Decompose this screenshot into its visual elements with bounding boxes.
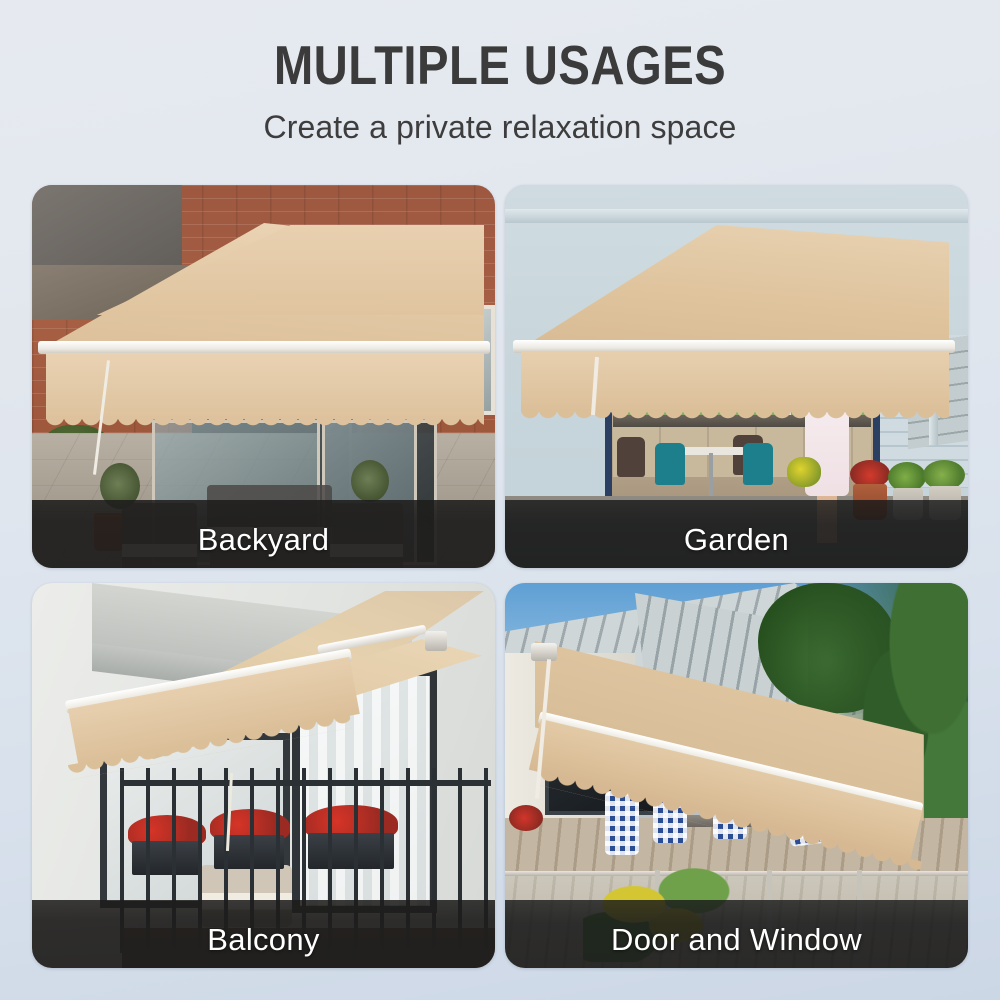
teal-chair-right — [743, 443, 773, 485]
awning-valance — [46, 353, 484, 419]
panel-caption: Backyard — [32, 522, 495, 558]
awning-scallop-edge — [521, 409, 949, 425]
awning-valance — [521, 352, 949, 412]
usage-panel-grid: Backyard — [32, 185, 968, 968]
red-flower — [509, 805, 543, 831]
panel-caption: Balcony — [32, 922, 495, 958]
teal-chair-left — [655, 443, 685, 485]
awning-wall-bracket — [425, 631, 447, 651]
panel-door-and-window[interactable]: Door and Window — [505, 583, 968, 968]
header: MULTIPLE USAGES Create a private relaxat… — [0, 0, 1000, 145]
page-subtitle: Create a private relaxation space — [0, 110, 1000, 145]
awning-scallop-edge — [46, 416, 484, 432]
page-title: MULTIPLE USAGES — [70, 38, 930, 93]
panel-balcony[interactable]: Balcony — [32, 583, 495, 968]
panel-caption: Garden — [505, 522, 968, 558]
panel-backyard[interactable]: Backyard — [32, 185, 495, 568]
topiary-right — [351, 460, 389, 502]
roof-eave — [505, 209, 968, 223]
glass-railing-handrail — [505, 871, 968, 876]
flower-bouquet — [787, 457, 821, 487]
brown-chair-left — [617, 437, 645, 477]
panel-garden[interactable]: Garden — [505, 185, 968, 568]
panel-caption: Door and Window — [505, 922, 968, 958]
awning-wall-bracket — [531, 643, 557, 661]
